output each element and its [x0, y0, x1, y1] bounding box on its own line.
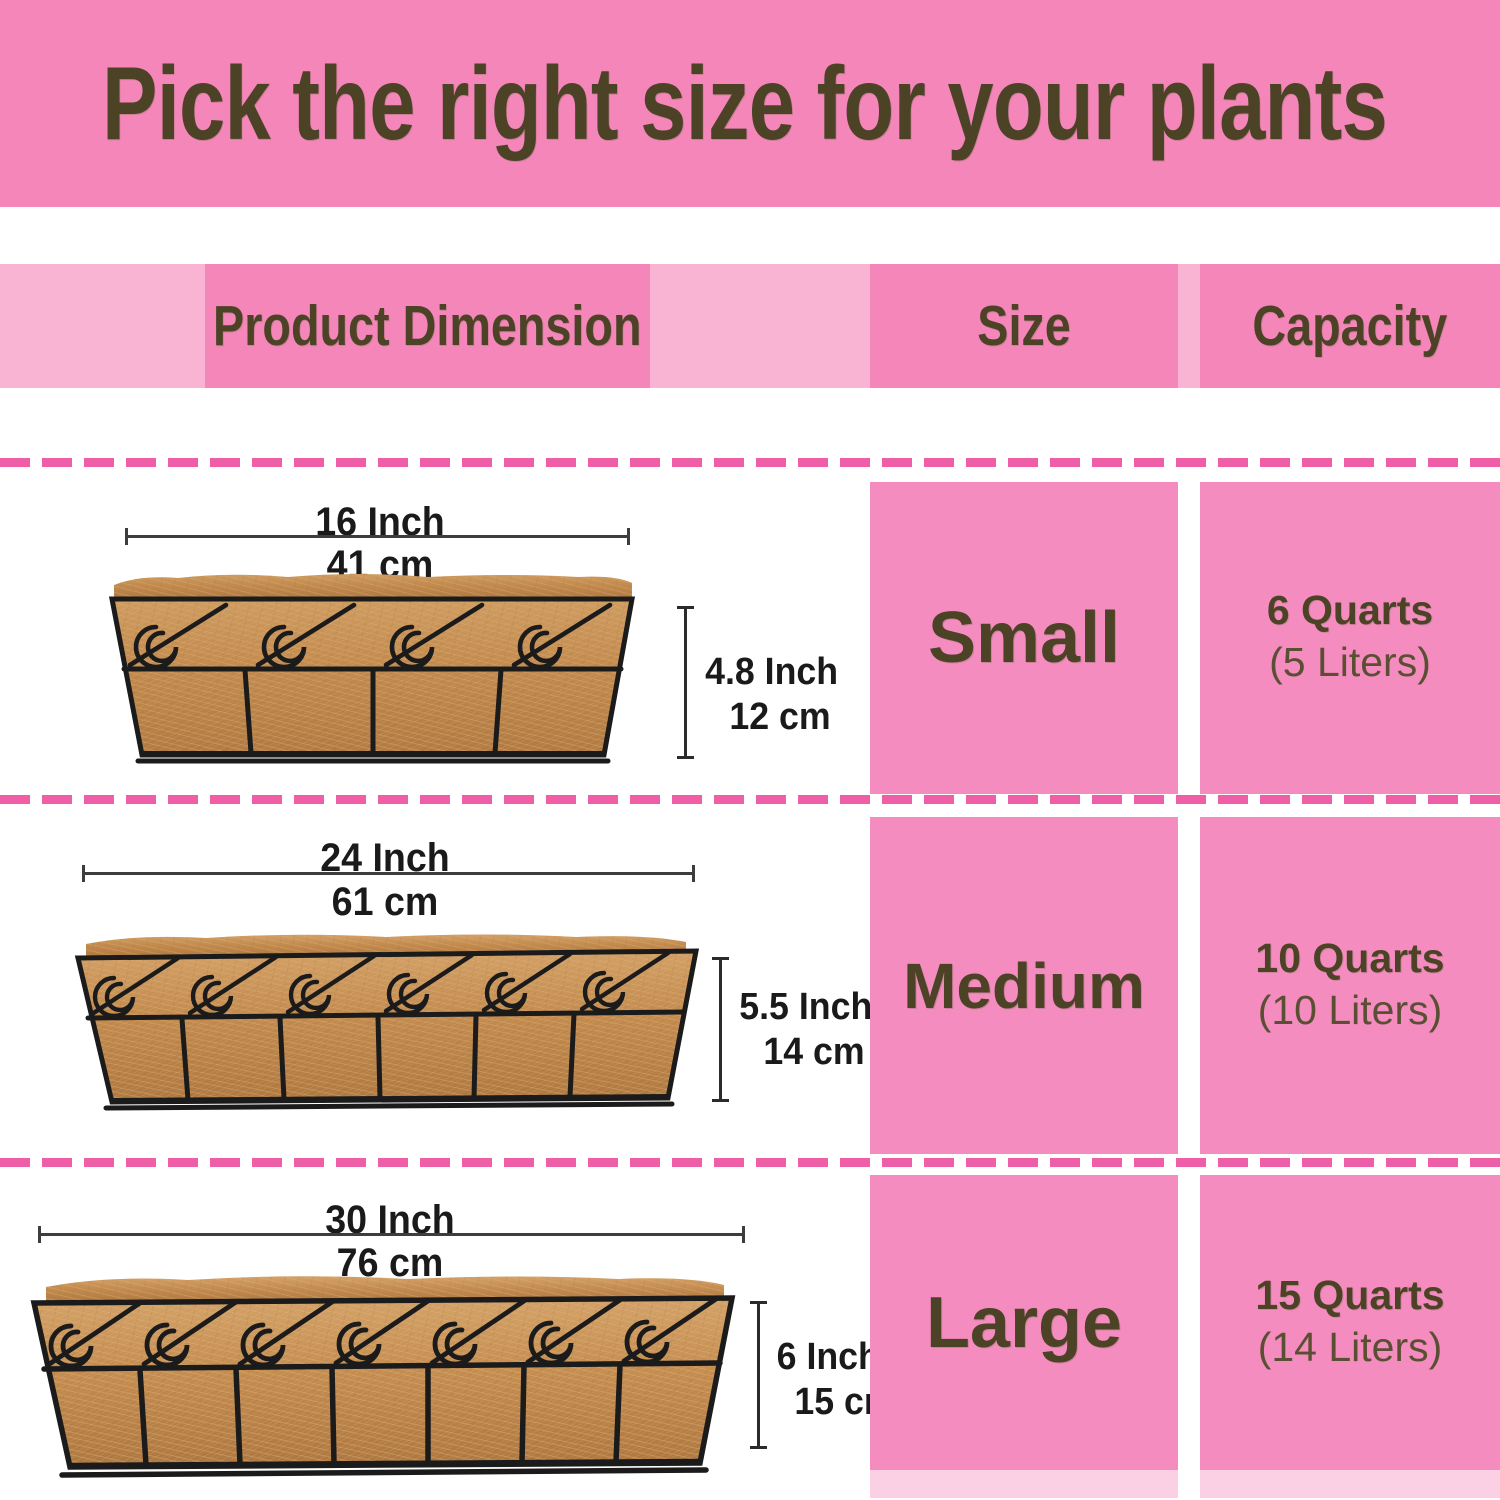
planter-svg-medium: [66, 920, 716, 1120]
width-measure-line-large: [38, 1233, 745, 1236]
capacity-cell-medium: 10 Quarts (10 Liters): [1200, 817, 1500, 1154]
header-banner: Pick the right size for your plants: [0, 0, 1500, 207]
size-cell-large: Large: [870, 1175, 1178, 1470]
capacity-quarts-label: 10 Quarts: [1255, 936, 1444, 982]
width-measure-line-small: [125, 535, 630, 538]
row-separator-dashed: [0, 795, 1500, 804]
width-cm-label-medium: 61 cm: [206, 882, 563, 922]
column-header-label: Product Dimension: [213, 298, 641, 355]
size-label: Medium: [903, 954, 1145, 1018]
capacity-liters-label: (14 Liters): [1258, 1323, 1443, 1372]
capacity-cell-large: 15 Quarts (14 Liters): [1200, 1175, 1500, 1470]
height-measure-line-small: [684, 606, 687, 759]
row-separator-dashed: [0, 1158, 1500, 1167]
planter-svg-small: [108, 565, 648, 775]
height-cm-label-medium: 14 cm: [739, 1025, 889, 1080]
capacity-quarts-label: 6 Quarts: [1267, 588, 1433, 634]
column-header-label: Capacity: [1253, 298, 1448, 355]
header-spacer-gap: [1178, 264, 1200, 388]
planter-image-large: [18, 1265, 748, 1490]
planter-svg-large: [18, 1265, 748, 1490]
capacity-liters-label: (5 Liters): [1269, 638, 1431, 687]
size-cell-small: Small: [870, 482, 1178, 794]
width-measure-line-medium: [82, 872, 695, 875]
size-label: Large: [926, 1287, 1122, 1359]
infographic-page: Pick the right size for your plants Prod…: [0, 0, 1500, 1500]
planter-image-medium: [66, 920, 716, 1120]
height-measure-line-medium: [719, 957, 722, 1102]
size-cell-medium: Medium: [870, 817, 1178, 1154]
planter-image-small: [108, 565, 648, 775]
column-header-capacity: Capacity: [1200, 264, 1500, 388]
size-label: Small: [928, 602, 1120, 674]
capacity-quarts-label: 15 Quarts: [1255, 1273, 1444, 1319]
height-measure-line-large: [757, 1301, 760, 1449]
column-header-label: Size: [977, 298, 1071, 355]
column-header-size: Size: [870, 264, 1178, 388]
column-header-product-dimension: Product Dimension: [205, 264, 650, 388]
height-cm-label-small: 12 cm: [705, 690, 855, 745]
page-title: Pick the right size for your plants: [102, 52, 1387, 156]
bottom-strip-capacity-column: [1200, 1470, 1500, 1498]
capacity-cell-small: 6 Quarts (5 Liters): [1200, 482, 1500, 794]
bottom-strip-size-column: [870, 1470, 1178, 1498]
row-separator-dashed: [0, 458, 1500, 467]
header-spacer-left: [0, 264, 205, 388]
header-spacer-middle: [650, 264, 870, 388]
table-header-row: Product Dimension Size Capacity: [0, 264, 1500, 388]
capacity-liters-label: (10 Liters): [1258, 986, 1443, 1035]
